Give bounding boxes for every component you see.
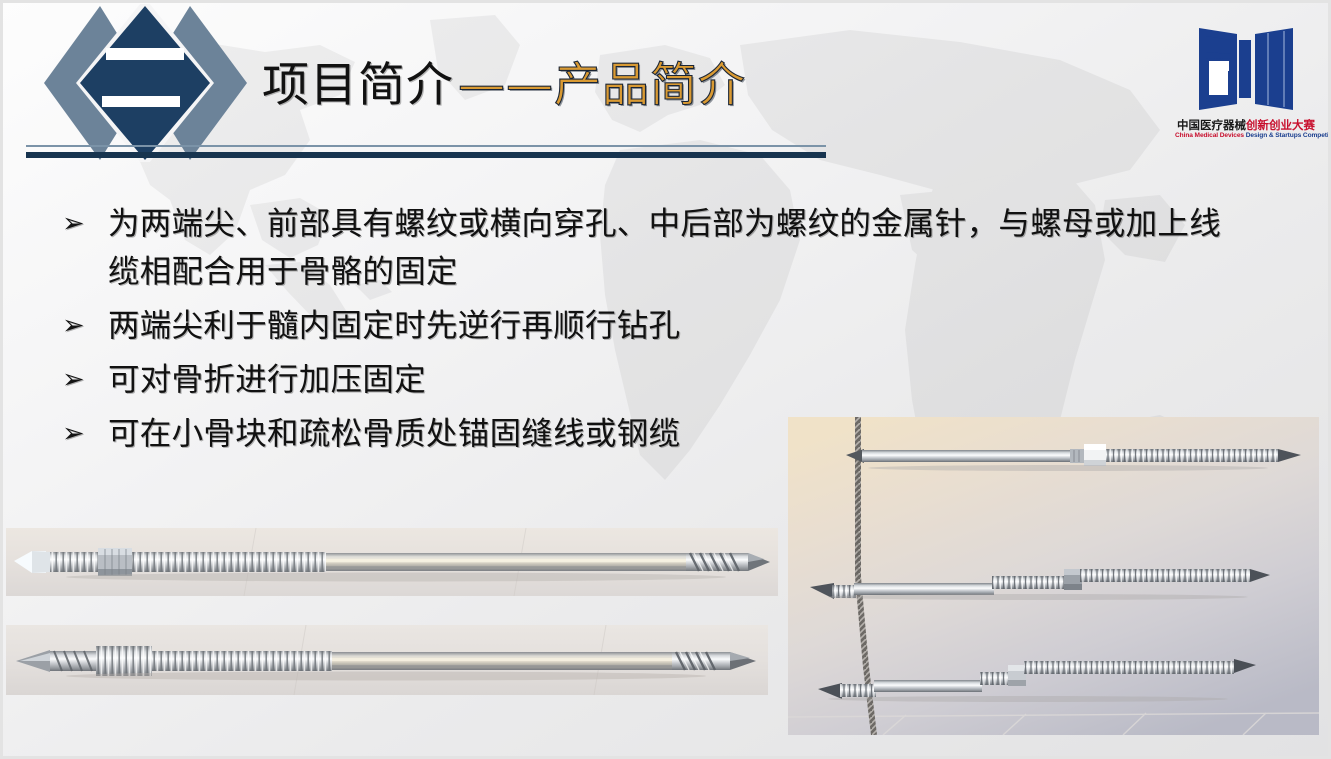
arrow-bullet-icon: ➢ [62,200,108,248]
competition-logo-en-text: China Medical Devices Design & Startups … [1175,132,1317,140]
competition-logo-en-accent: Design & Startups Competition [1246,132,1331,139]
title-rule-thick [26,152,826,158]
bullet-list: ➢ 为两端尖、前部具有螺纹或横向穿孔、中后部为螺纹的金属针，与螺母或加上线缆相配… [62,200,1222,464]
arrow-bullet-icon: ➢ [62,410,108,458]
list-item-text: 可在小骨块和疏松骨质处锚固缝线或钢缆 [108,410,1222,458]
page-title: 项目简介——产品简介 [262,62,746,109]
list-item: ➢ 可对骨折进行加压固定 [62,356,1222,404]
page-title-subtitle: ——产品简介 [458,58,746,113]
page-title-main: 项目简介 [262,58,454,113]
product-photo-three-pins-with-cable [788,417,1319,735]
list-item: ➢ 两端尖利于髓内固定时先逆行再顺行钻孔 [62,302,1222,350]
list-item: ➢ 为两端尖、前部具有螺纹或横向穿孔、中后部为螺纹的金属针，与螺母或加上线缆相配… [62,200,1222,296]
competition-logo: 中国医疗器械创新创业大赛 China Medical Devices Desig… [1175,14,1317,162]
diamond-emblem-icon [38,4,253,162]
arrow-bullet-icon: ➢ [62,356,108,404]
competition-logo-cn-text: 中国医疗器械创新创业大赛 [1175,119,1317,132]
list-item-text: 为两端尖、前部具有螺纹或横向穿孔、中后部为螺纹的金属针，与螺母或加上线缆相配合用… [108,200,1222,296]
competition-logo-en-prefix: China Medical Devices [1175,132,1244,139]
product-photo-pin-with-nut [6,528,778,596]
open-book-door-icon [1175,14,1317,118]
list-item-text: 两端尖利于髓内固定时先逆行再顺行钻孔 [108,302,1222,350]
product-photo-pin-threaded [6,625,768,695]
list-item-text: 可对骨折进行加压固定 [108,356,1222,404]
title-rule-thin [26,145,826,147]
competition-logo-cn-prefix: 中国医疗器械 [1177,118,1246,132]
list-item: ➢ 可在小骨块和疏松骨质处锚固缝线或钢缆 [62,410,1222,458]
slide-header: 项目简介——产品简介 [0,0,1331,175]
competition-logo-cn-accent: 创新创业大赛 [1246,118,1315,132]
presentation-slide: 项目简介——产品简介 [0,0,1331,759]
arrow-bullet-icon: ➢ [62,302,108,350]
